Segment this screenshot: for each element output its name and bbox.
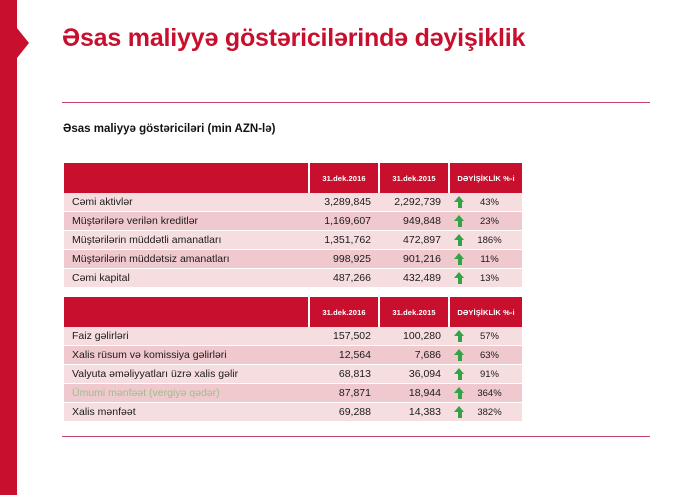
cell-change: 13% xyxy=(450,269,522,288)
row-label: Xalis rüsum və komissiya gəlirləri xyxy=(64,346,310,365)
cell-change: 23% xyxy=(450,212,522,231)
cell-change: 11% xyxy=(450,250,522,269)
change-indicator: 13% xyxy=(450,269,522,287)
row-label: Cəmi aktivlər xyxy=(64,193,310,212)
cell-value-2016: 68,813 xyxy=(310,365,380,384)
cell-value-2015: 901,216 xyxy=(380,250,450,269)
cell-value-2016: 69,288 xyxy=(310,403,380,422)
change-indicator: 91% xyxy=(450,365,522,383)
arrow-up-icon xyxy=(454,406,465,418)
cell-value-2015: 18,944 xyxy=(380,384,450,403)
table-row: Cəmi aktivlər3,289,8452,292,73943% xyxy=(64,193,522,212)
cell-value-2016: 1,351,762 xyxy=(310,231,380,250)
table-row: Müştərilərin müddətsiz amanatları998,925… xyxy=(64,250,522,269)
arrow-up-icon xyxy=(454,253,465,265)
cell-value-2016: 487,266 xyxy=(310,269,380,288)
accent-arrow-icon xyxy=(17,28,29,58)
column-header-year-2016: 31.dek.2016 xyxy=(310,163,380,193)
cell-value-2015: 432,489 xyxy=(380,269,450,288)
row-label: Cəmi kapital xyxy=(64,269,310,288)
change-indicator: 43% xyxy=(450,193,522,211)
cell-value-2016: 157,502 xyxy=(310,327,380,346)
cell-value-2015: 100,280 xyxy=(380,327,450,346)
row-label: Xalis mənfəət xyxy=(64,403,310,422)
change-indicator: 63% xyxy=(450,346,522,364)
table-row: Cəmi kapital487,266432,48913% xyxy=(64,269,522,288)
row-label: Müştərilərin müddətli amanatları xyxy=(64,231,310,250)
change-percent: 364% xyxy=(469,388,522,399)
cell-value-2016: 1,169,607 xyxy=(310,212,380,231)
left-accent-bar xyxy=(0,0,17,495)
cell-value-2016: 3,289,845 xyxy=(310,193,380,212)
arrow-up-icon xyxy=(454,330,465,342)
cell-change: 382% xyxy=(450,403,522,422)
column-header-year-2016: 31.dek.2016 xyxy=(310,297,380,327)
arrow-up-icon xyxy=(454,234,465,246)
row-label: Ümumi mənfəət (vergiyə qədər) xyxy=(64,384,310,403)
table-row: Xalis rüsum və komissiya gəlirləri12,564… xyxy=(64,346,522,365)
arrow-up-icon xyxy=(454,196,465,208)
cell-value-2015: 36,094 xyxy=(380,365,450,384)
table-header: 31.dek.2016 31.dek.2015 DƏYİŞİKLİK %-i xyxy=(64,297,522,327)
change-percent: 186% xyxy=(469,235,522,246)
table-header-row: 31.dek.2016 31.dek.2015 DƏYİŞİKLİK %-i xyxy=(64,163,522,193)
change-percent: 63% xyxy=(469,350,522,361)
arrow-up-icon xyxy=(454,387,465,399)
cell-change: 57% xyxy=(450,327,522,346)
cell-value-2016: 998,925 xyxy=(310,250,380,269)
cell-value-2016: 87,871 xyxy=(310,384,380,403)
cell-change: 43% xyxy=(450,193,522,212)
change-percent: 57% xyxy=(469,331,522,342)
column-header-change: DƏYİŞİKLİK %-i xyxy=(450,163,522,193)
column-header-label xyxy=(64,297,310,327)
table-row: Müştərilərə verilən kreditlər1,169,60794… xyxy=(64,212,522,231)
change-indicator: 186% xyxy=(450,231,522,249)
cell-value-2015: 14,383 xyxy=(380,403,450,422)
cell-value-2015: 472,897 xyxy=(380,231,450,250)
arrow-up-icon xyxy=(454,215,465,227)
change-percent: 11% xyxy=(469,254,522,265)
change-indicator: 364% xyxy=(450,384,522,402)
table-body: Cəmi aktivlər3,289,8452,292,73943%Müştər… xyxy=(64,193,522,288)
change-percent: 13% xyxy=(469,273,522,284)
cell-value-2015: 949,848 xyxy=(380,212,450,231)
table-body: Faiz gəlirləri157,502100,28057%Xalis rüs… xyxy=(64,327,522,422)
table-income-statement: 31.dek.2016 31.dek.2015 DƏYİŞİKLİK %-i F… xyxy=(64,297,522,422)
table-row: Müştərilərin müddətli amanatları1,351,76… xyxy=(64,231,522,250)
table-row: Xalis mənfəət69,28814,383382% xyxy=(64,403,522,422)
change-indicator: 23% xyxy=(450,212,522,230)
row-label: Valyuta əməliyyatları üzrə xalis gəlir xyxy=(64,365,310,384)
page-title: Əsas maliyyə göstəricilərində dəyişiklik xyxy=(62,24,662,53)
cell-change: 186% xyxy=(450,231,522,250)
change-percent: 91% xyxy=(469,369,522,380)
divider-top xyxy=(62,102,650,103)
row-label: Müştərilərə verilən kreditlər xyxy=(64,212,310,231)
divider-bottom xyxy=(62,436,650,437)
row-label: Faiz gəlirləri xyxy=(64,327,310,346)
cell-change: 91% xyxy=(450,365,522,384)
table-header-row: 31.dek.2016 31.dek.2015 DƏYİŞİKLİK %-i xyxy=(64,297,522,327)
section-subtitle: Əsas maliyyə göstəriciləri (min AZN-lə) xyxy=(63,123,275,135)
cell-value-2015: 2,292,739 xyxy=(380,193,450,212)
change-percent: 43% xyxy=(469,197,522,208)
column-header-change: DƏYİŞİKLİK %-i xyxy=(450,297,522,327)
cell-value-2016: 12,564 xyxy=(310,346,380,365)
row-label: Müştərilərin müddətsiz amanatları xyxy=(64,250,310,269)
column-header-year-2015: 31.dek.2015 xyxy=(380,297,450,327)
cell-change: 364% xyxy=(450,384,522,403)
change-indicator: 382% xyxy=(450,403,522,421)
change-percent: 382% xyxy=(469,407,522,418)
cell-change: 63% xyxy=(450,346,522,365)
table-balance-sheet: 31.dek.2016 31.dek.2015 DƏYİŞİKLİK %-i C… xyxy=(64,163,522,288)
table-row: Faiz gəlirləri157,502100,28057% xyxy=(64,327,522,346)
arrow-up-icon xyxy=(454,368,465,380)
column-header-label xyxy=(64,163,310,193)
table-row: Ümumi mənfəət (vergiyə qədər)87,87118,94… xyxy=(64,384,522,403)
table-row: Valyuta əməliyyatları üzrə xalis gəlir68… xyxy=(64,365,522,384)
change-indicator: 11% xyxy=(450,250,522,268)
table-header: 31.dek.2016 31.dek.2015 DƏYİŞİKLİK %-i xyxy=(64,163,522,193)
arrow-up-icon xyxy=(454,349,465,361)
change-percent: 23% xyxy=(469,216,522,227)
change-indicator: 57% xyxy=(450,327,522,345)
arrow-up-icon xyxy=(454,272,465,284)
column-header-year-2015: 31.dek.2015 xyxy=(380,163,450,193)
cell-value-2015: 7,686 xyxy=(380,346,450,365)
